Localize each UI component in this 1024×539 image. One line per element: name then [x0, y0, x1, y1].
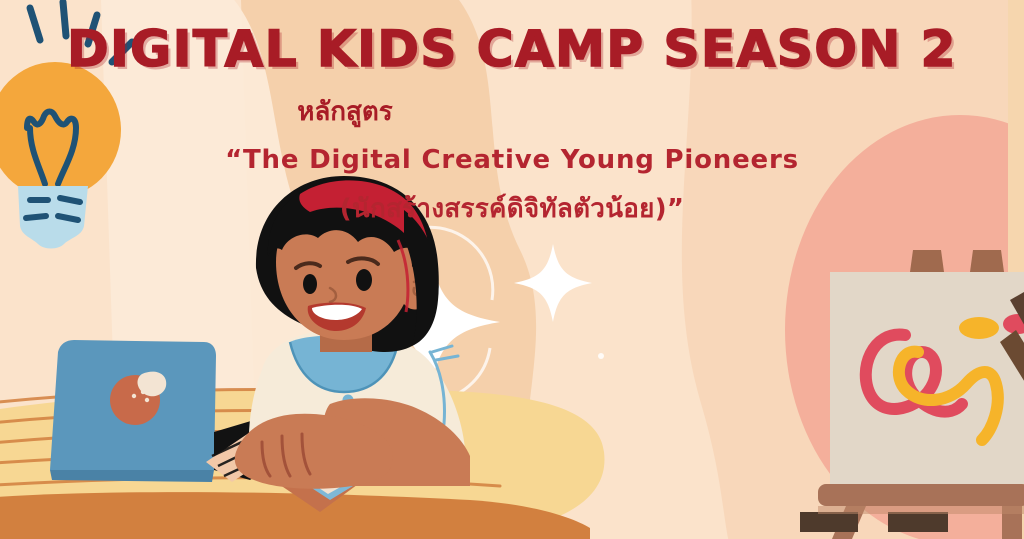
girl-eye-right	[356, 269, 372, 291]
girl-sleeve-stitch	[432, 346, 458, 360]
promo-banner: DIGITAL KIDS CAMP SEASON 2 หลักสูตร “The…	[0, 0, 1024, 539]
girl-illustration	[0, 0, 1024, 539]
girl-eye-left	[303, 274, 317, 294]
